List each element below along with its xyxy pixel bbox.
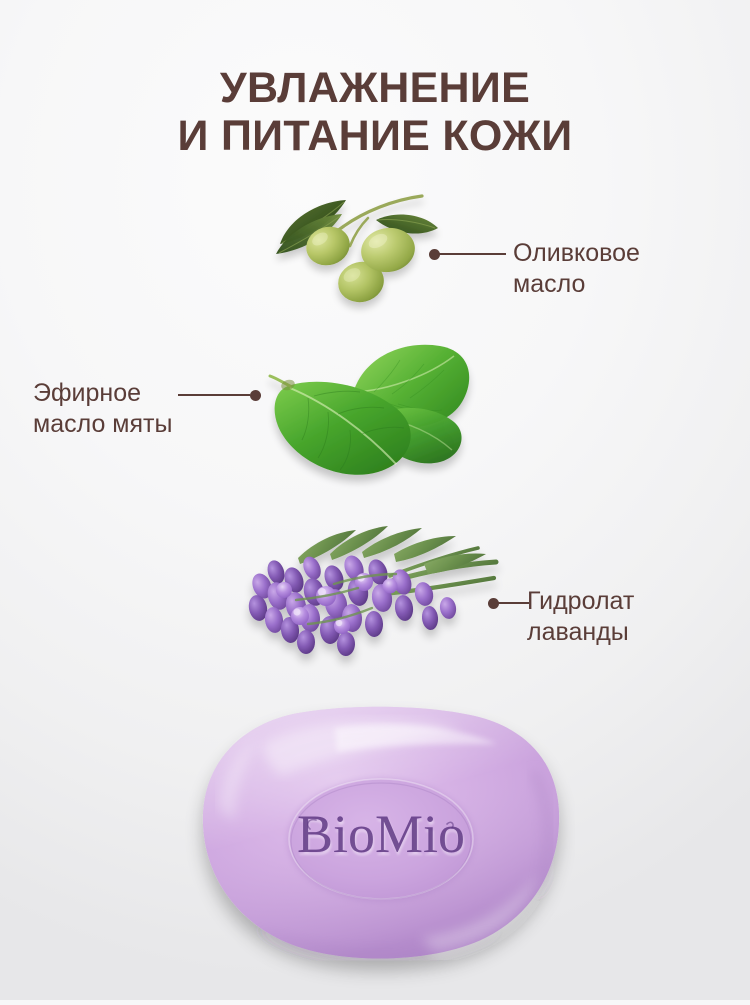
olive-oil-label: Оливковое масло	[513, 238, 640, 300]
mint-oil-label: Эфирное масло мяты	[33, 378, 172, 440]
page-title-line-1: УВЛАЖНЕНИЕ	[0, 64, 750, 112]
mint-oil-label-line-1: Эфирное	[33, 378, 172, 409]
olive-oil-label-line-1: Оливковое	[513, 238, 640, 269]
soap-brand-text: BioMio	[297, 804, 465, 864]
mint-leaves-icon	[262, 338, 477, 488]
page-title: УВЛАЖНЕНИЕ И ПИТАНИЕ КОЖИ	[0, 64, 750, 160]
lavender-label: Гидролат лаванды	[527, 586, 634, 648]
soap-bar-image: BioMio BioMio	[185, 700, 575, 1000]
olive-branch-icon	[272, 190, 442, 305]
mint-oil-label-line-2: масло мяты	[33, 409, 172, 440]
lavender-sprig-icon	[238, 520, 503, 685]
olive-oil-label-line-2: масло	[513, 269, 640, 300]
page-title-line-2: И ПИТАНИЕ КОЖИ	[0, 112, 750, 160]
lavender-label-line-2: лаванды	[527, 617, 634, 648]
lavender-label-line-1: Гидролат	[527, 586, 634, 617]
product-infographic: УВЛАЖНЕНИЕ И ПИТАНИЕ КОЖИ	[0, 0, 750, 1000]
